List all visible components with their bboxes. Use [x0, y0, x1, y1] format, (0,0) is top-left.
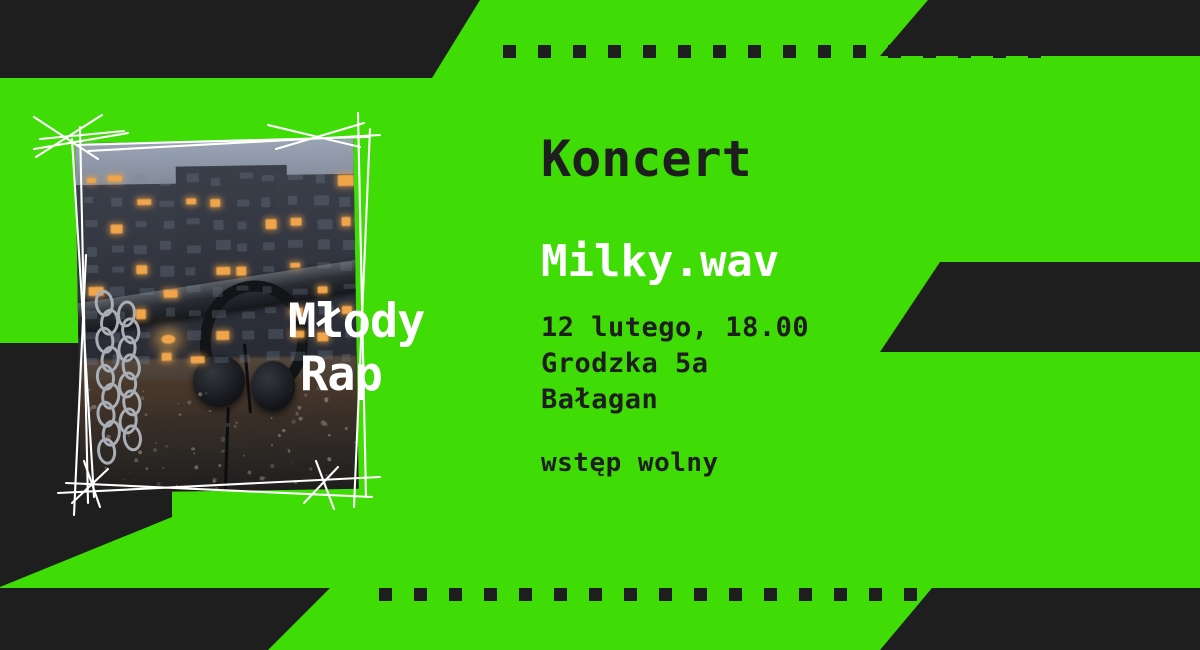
- concert-poster: Młody Rap Koncert Milky.wav 12 lutego, 1…: [0, 0, 1200, 650]
- photo-window: [87, 247, 97, 257]
- photo-ground-speck: [143, 390, 145, 392]
- photo-ground-speck: [221, 437, 225, 441]
- decor-dot: [659, 588, 672, 601]
- entry-note: wstęp wolny: [541, 448, 961, 478]
- photo-window: [111, 198, 122, 207]
- photo-ground-speck: [191, 447, 195, 451]
- photo-window: [240, 172, 253, 179]
- photo-window: [237, 200, 250, 207]
- decor-shape-top-left: [0, 0, 480, 78]
- photo-window-lit: [110, 224, 123, 233]
- photo-window: [343, 283, 358, 289]
- decor-dot: [923, 45, 936, 58]
- decor-dot: [1009, 588, 1022, 601]
- decor-dot: [624, 588, 637, 601]
- photo-window: [212, 287, 222, 297]
- decor-dot: [993, 45, 1006, 58]
- photo-ground-speck: [178, 403, 180, 405]
- photo-window: [212, 310, 227, 318]
- photo-window: [343, 239, 357, 250]
- photo-window: [318, 220, 333, 229]
- decor-dot: [379, 588, 392, 601]
- photo-ground-speck: [213, 478, 217, 482]
- decor-dot: [1028, 45, 1041, 58]
- photo-window-lit: [137, 199, 152, 205]
- photo-ground-speck: [299, 416, 303, 420]
- photo-window-lit: [317, 287, 328, 293]
- photo-window: [317, 262, 331, 269]
- event-venue: Bałagan: [541, 382, 961, 418]
- decor-dot: [834, 588, 847, 601]
- photo-window: [339, 197, 350, 207]
- decor-dot: [713, 45, 726, 58]
- photo-ground-speck: [327, 457, 331, 461]
- decor-dot: [853, 45, 866, 58]
- photo-window: [266, 351, 280, 360]
- decor-dot: [904, 588, 917, 601]
- photo-window: [264, 266, 275, 273]
- photo-window-lit: [342, 217, 351, 225]
- photo-window: [288, 195, 297, 205]
- decor-dot: [503, 45, 516, 58]
- photo-window: [139, 288, 154, 295]
- decor-dot: [449, 588, 462, 601]
- photo-ground-speck: [218, 464, 221, 467]
- photo-window-lit: [216, 267, 231, 275]
- photo-ground-speck: [271, 444, 273, 446]
- decor-dot: [538, 45, 551, 58]
- event-heading: Koncert: [541, 134, 961, 184]
- photo-window: [134, 245, 147, 254]
- decor-dot: [888, 45, 901, 58]
- photo-window: [161, 266, 175, 277]
- photo-window: [288, 240, 303, 248]
- decor-dot: [729, 588, 742, 601]
- photo-window-lit: [186, 198, 196, 204]
- photo-window-lit: [164, 290, 178, 298]
- photo-window: [265, 308, 276, 314]
- photo-window: [263, 242, 275, 251]
- band-name: Milky.wav: [541, 240, 961, 284]
- photo-window: [186, 218, 199, 224]
- photo-ground-speck: [234, 425, 237, 428]
- photo-window: [314, 195, 329, 206]
- decor-dot: [748, 45, 761, 58]
- photo-ground-speck: [309, 467, 313, 471]
- photo-ground-speck: [104, 466, 107, 469]
- photo-window: [243, 330, 254, 340]
- decor-dot: [414, 588, 427, 601]
- photo-window: [241, 311, 255, 318]
- decor-dot: [519, 588, 532, 601]
- photo-ground-speck: [130, 472, 131, 473]
- event-date-time: 12 lutego, 18.00: [541, 310, 961, 346]
- decor-dot: [694, 588, 707, 601]
- photo-window: [112, 267, 124, 273]
- photo-window: [268, 329, 283, 339]
- photo-window: [136, 221, 147, 227]
- decor-dot: [958, 45, 971, 58]
- photo-ground-speck: [175, 484, 177, 486]
- photo-ground-speck: [145, 413, 148, 416]
- photo-window: [85, 358, 97, 365]
- photo-caption: Młody Rap: [288, 300, 424, 397]
- photo-window-lit: [136, 265, 147, 274]
- photo-window-lit: [290, 262, 301, 268]
- photo-ground-speck: [188, 400, 192, 404]
- photo-ground-speck: [88, 389, 91, 392]
- photo-window: [188, 310, 200, 316]
- photo-ground-speck: [328, 434, 330, 436]
- photo-window-lit: [191, 356, 205, 363]
- decor-shape-bottom-left: [0, 588, 330, 650]
- decor-dot: [974, 588, 987, 601]
- photo-window: [261, 197, 271, 207]
- decor-dot: [678, 45, 691, 58]
- photo-ground-speck: [214, 487, 218, 491]
- photo-window: [160, 240, 172, 249]
- photo-ground-speck: [134, 458, 138, 462]
- photo-window: [316, 174, 325, 183]
- photo-window: [140, 332, 151, 338]
- photo-window: [83, 310, 97, 319]
- photo-window: [215, 357, 229, 363]
- photo-ground-speck: [295, 412, 299, 416]
- decor-dot: [554, 588, 567, 601]
- photo-ground-speck: [195, 466, 198, 469]
- decor-dot: [608, 45, 621, 58]
- photo-ground-speck: [145, 467, 148, 470]
- photo-window-lit: [216, 330, 229, 340]
- photo-ground-speck: [354, 442, 355, 443]
- decor-dot: [764, 588, 777, 601]
- decor-dot: [869, 588, 882, 601]
- photo-window: [288, 173, 303, 180]
- photo-window: [187, 330, 201, 340]
- photo-window: [237, 243, 248, 251]
- photo-ground-speck: [288, 450, 291, 453]
- photo-window: [163, 221, 175, 229]
- photo-window: [185, 267, 195, 275]
- photo-window-lit: [291, 218, 302, 226]
- photo-window: [84, 197, 94, 204]
- photo-window-lit: [338, 175, 353, 186]
- decor-dot: [818, 45, 831, 58]
- photo-window: [261, 175, 274, 182]
- photo-window-lit: [211, 199, 221, 207]
- decor-dot: [939, 588, 952, 601]
- photo-window: [262, 286, 272, 294]
- photo-window: [213, 220, 223, 231]
- photo-window-lit: [266, 219, 277, 229]
- photo-ground-speck: [138, 450, 142, 454]
- photo-window: [134, 174, 147, 180]
- photo-ground-speck: [345, 427, 348, 430]
- photo-ground-speck: [194, 453, 195, 454]
- photo-ground-speck: [324, 423, 327, 426]
- photo-ground-speck: [265, 476, 267, 478]
- photo-window: [187, 286, 201, 293]
- decor-dot: [484, 588, 497, 601]
- photo-window: [237, 285, 249, 291]
- event-info-column: Koncert Milky.wav 12 lutego, 18.00 Grodz…: [541, 134, 961, 478]
- photo-window: [187, 245, 201, 254]
- decor-dot: [799, 588, 812, 601]
- photo-window: [166, 308, 175, 317]
- photo-ground-speck: [292, 419, 296, 423]
- event-street: Grodzka 5a: [541, 346, 961, 382]
- dotted-rule-bottom: [379, 588, 1022, 601]
- photo-ground-speck: [165, 445, 168, 448]
- photo-window: [111, 245, 124, 253]
- photo-window: [216, 240, 232, 250]
- photo-window-lit: [136, 309, 146, 319]
- decor-dot: [783, 45, 796, 58]
- photo-window-lit: [162, 353, 172, 362]
- photo-ground-speck: [293, 479, 297, 483]
- photo-window: [240, 354, 250, 362]
- photo-window: [85, 220, 97, 228]
- photo-window-lit: [236, 266, 246, 276]
- photo-caption-line-2: Rap: [300, 353, 424, 398]
- decor-dot: [573, 45, 586, 58]
- dotted-rule-top: [503, 45, 1041, 58]
- photo-window-lit: [107, 175, 121, 182]
- photo-window: [318, 240, 330, 249]
- photo-ground-speck: [270, 464, 274, 468]
- photo-caption-line-1: Młody: [288, 300, 424, 345]
- photo-ground-speck: [243, 454, 245, 456]
- photo-window: [237, 222, 246, 230]
- decor-dot: [643, 45, 656, 58]
- photo-window: [159, 201, 174, 207]
- decor-dot: [589, 588, 602, 601]
- photo-window: [159, 178, 171, 186]
- photo-window: [211, 178, 220, 187]
- photo-window: [340, 262, 352, 271]
- photo-window: [187, 173, 199, 182]
- photo-window-lit: [87, 177, 96, 183]
- photo-ground-speck: [155, 442, 157, 444]
- photo-street-lamp: [162, 334, 176, 343]
- photo-window: [87, 265, 98, 273]
